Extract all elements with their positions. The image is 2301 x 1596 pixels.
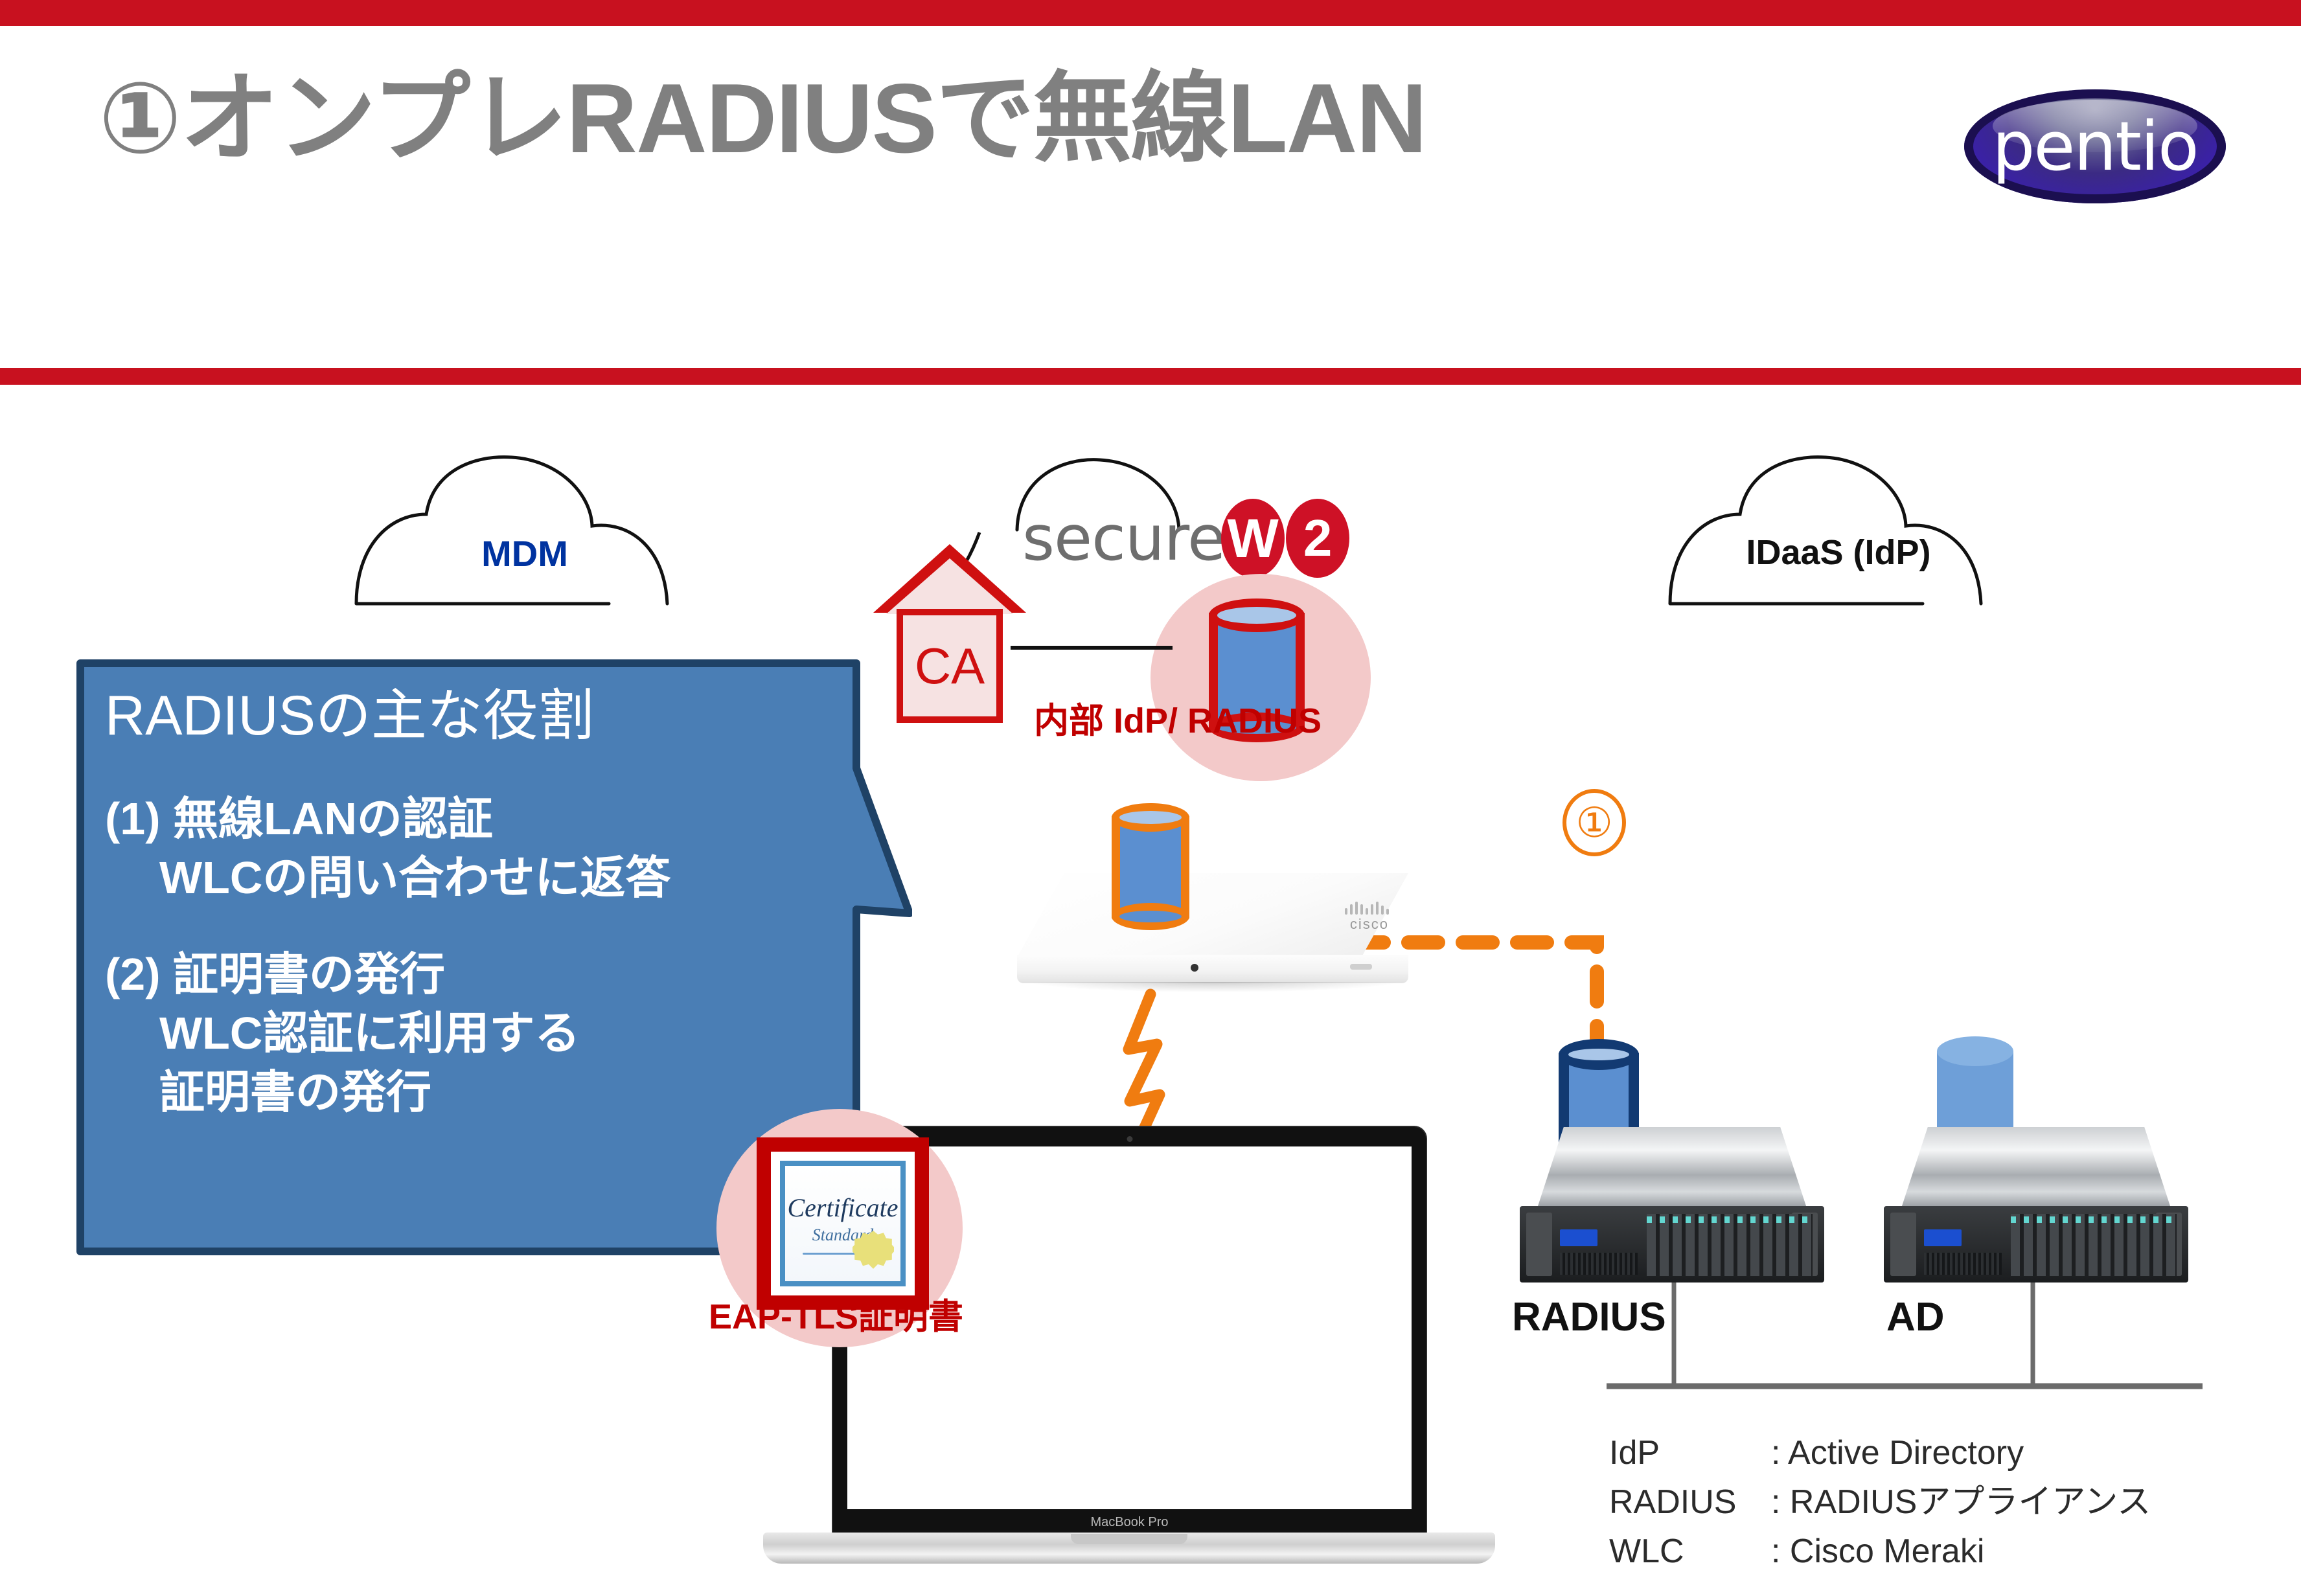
callout-item-2-line1: 証明書の発行	[173, 949, 445, 999]
server-drive-bays	[1647, 1214, 1813, 1276]
callout-item-1: (1) 無線LANの認証 WLCの問い合わせに返答	[105, 790, 830, 907]
callout-content: RADIUSの主な役割 (1) 無線LANの認証 WLCの問い合わせに返答 (2…	[105, 685, 830, 1159]
callout-item-1-line2: WLCの問い合わせに返答	[105, 849, 830, 907]
ca-label: CA	[915, 641, 985, 691]
db-top-cap	[1112, 803, 1189, 832]
cisco-bars-icon	[1345, 902, 1389, 915]
internal-idp-label: 内部 IdP/ RADIUS	[1034, 692, 1322, 743]
ca-roof-fill	[886, 558, 1013, 614]
server-radius-label: RADIUS	[1512, 1294, 1666, 1340]
callout-item-2: (2) 証明書の発行 WLC認証に利用する 証明書の発行	[105, 945, 830, 1122]
cisco-access-point: cisco	[999, 873, 1426, 996]
callout-item-2-line3: 証明書の発行	[105, 1063, 830, 1122]
server-ad-label: AD	[1886, 1294, 1945, 1340]
legend-row: WLC : Cisco Meraki	[1609, 1527, 2151, 1577]
db-top-cap	[1937, 1036, 2013, 1066]
server-radius	[1520, 1127, 1824, 1284]
server-lcd	[1560, 1229, 1597, 1246]
cloud-mdm-label: MDM	[481, 532, 568, 575]
certificate-mat: Certificate Standard	[771, 1152, 915, 1295]
server-top-shell	[1901, 1127, 2171, 1210]
ap-vent	[1350, 964, 1372, 970]
ap-shadow	[1027, 982, 1401, 992]
legend-key: RADIUS	[1609, 1478, 1771, 1527]
server-top-shell	[1537, 1127, 1807, 1210]
ca-body-shape: CA	[897, 609, 1003, 723]
callout-item-1-line1: 無線LANの認証	[173, 793, 493, 844]
securew2-wordmark: secure	[1022, 502, 1225, 575]
db-top-cap	[1559, 1039, 1639, 1070]
cloud-idaas-label: IDaaS (IdP)	[1746, 532, 1930, 573]
server-lcd	[1924, 1229, 1962, 1246]
securew2-logo: secure W 2	[1022, 499, 1349, 578]
laptop-model-label: MacBook Pro	[833, 1515, 1426, 1530]
flow-step-marker-1: ①	[1563, 789, 1626, 856]
legend-row: IdP : Active Directory	[1609, 1429, 2151, 1478]
legend-value: : Active Directory	[1771, 1429, 2024, 1478]
server-mesh	[1560, 1253, 1638, 1275]
top-accent-bar	[0, 0, 2301, 26]
ap-front-face	[1017, 955, 1408, 983]
slide-canvas: ①オンプレRADIUSで無線LAN pentio MDM IDaaS (IdP)…	[0, 0, 2301, 1596]
server-front-panel	[1884, 1206, 2188, 1282]
laptop-notch	[1071, 1534, 1187, 1544]
ap-brand-label: cisco	[1350, 916, 1389, 933]
callout-title: RADIUSの主な役割	[105, 685, 830, 747]
cloud-mdm: MDM	[350, 450, 700, 609]
legend-key: IdP	[1609, 1429, 1771, 1478]
securew2-badge-2: 2	[1286, 499, 1349, 578]
callout-item-2-line2: WLC認証に利用する	[105, 1004, 830, 1063]
legend-key: WLC	[1609, 1527, 1771, 1577]
securew2-badge-w: W	[1221, 499, 1285, 578]
server-front-panel	[1520, 1206, 1824, 1282]
server-drive-leds	[1647, 1216, 1813, 1223]
logo-text: pentio	[1992, 107, 2197, 186]
db-bottom-cap	[1112, 903, 1189, 930]
ap-top-surface	[1017, 873, 1408, 957]
certificate-face: Certificate Standard	[780, 1161, 906, 1286]
certificate-icon: Certificate Standard	[757, 1137, 929, 1310]
laptop-camera-icon	[1127, 1136, 1132, 1142]
page-title: ①オンプレRADIUSで無線LAN	[98, 65, 1426, 173]
header-divider-bar	[0, 368, 2301, 385]
pentio-logo: pentio	[1964, 89, 2226, 203]
server-ear-left	[1526, 1213, 1552, 1276]
legend-value: : RADIUSアプライアンス	[1771, 1478, 2151, 1527]
legend: IdP : Active Directory RADIUS : RADIUSアプ…	[1609, 1429, 2151, 1577]
db-top-cap	[1209, 598, 1305, 632]
callout-item-1-num: (1)	[105, 793, 161, 844]
db-ap-orange	[1112, 803, 1189, 930]
server-ad	[1884, 1127, 2188, 1284]
callout-item-2-num: (2)	[105, 949, 161, 999]
server-drive-leds	[2011, 1216, 2177, 1223]
server-mesh	[1924, 1253, 2002, 1275]
ap-led-indicator	[1191, 964, 1198, 972]
certificate-caption: EAP-TLS証明書	[709, 1288, 963, 1339]
legend-value: : Cisco Meraki	[1771, 1527, 1984, 1577]
cloud-idaas: IDaaS (IdP)	[1664, 450, 2013, 609]
legend-row: RADIUS : RADIUSアプライアンス	[1609, 1478, 2151, 1527]
server-ear-left	[1890, 1213, 1916, 1276]
certificate-title: Certificate	[787, 1192, 898, 1223]
server-drive-bays	[2011, 1214, 2177, 1276]
